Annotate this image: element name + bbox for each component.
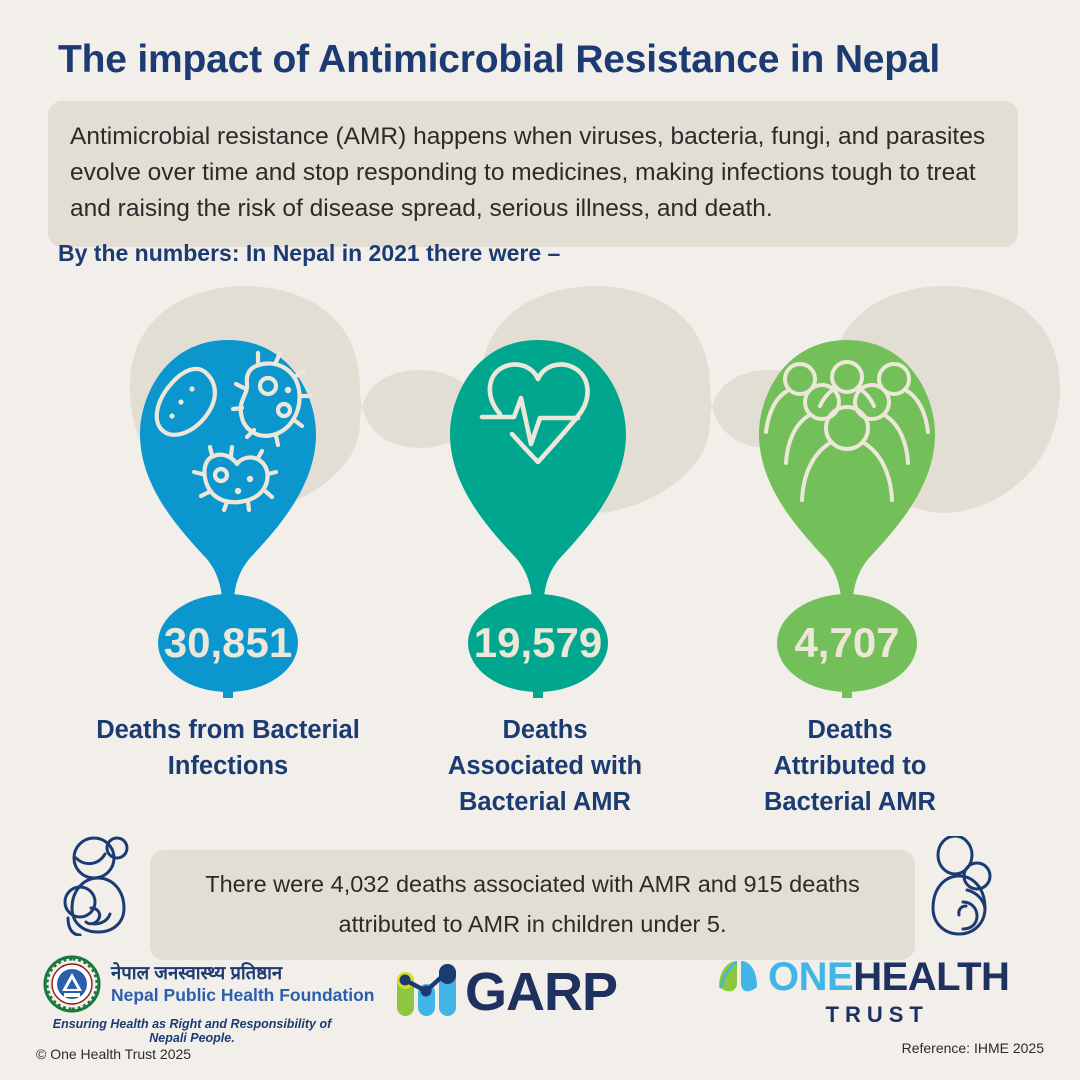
intro-text: Antimicrobial resistance (AMR) happens w… [70, 119, 996, 227]
children-note-text: There were 4,032 deaths associated with … [205, 871, 860, 937]
mother-child-left-icon [58, 836, 140, 941]
children-note-panel: There were 4,032 deaths associated with … [150, 850, 915, 960]
garp-bars-icon [395, 958, 463, 1018]
nphf-english-name: Nepal Public Health Foundation [111, 984, 374, 1006]
stat-value-bubble-0: 30,851 [158, 594, 298, 692]
stat-caption-1: Deaths Associated with Bacterial AMR [400, 712, 690, 820]
page-title: The impact of Antimicrobial Resistance i… [58, 38, 1038, 82]
logo-one-health-trust: ONE HEALTH TRUST [715, 955, 1009, 1028]
intro-panel: Antimicrobial resistance (AMR) happens w… [48, 101, 1018, 247]
oht-word-health: HEALTH [853, 955, 1009, 1000]
nphf-emblem-icon [42, 955, 102, 1013]
nphf-devanagari-name: नेपाल जनस्वास्थ्य प्रतिष्ठान [111, 962, 374, 984]
infographic-root: The impact of Antimicrobial Resistance i… [0, 0, 1080, 1080]
footer-copyright: © One Health Trust 2025 [36, 1046, 191, 1062]
stat-value-bubble-2: 4,707 [777, 594, 917, 692]
stat-caption-2-line1: Deaths [705, 712, 995, 748]
stat-caption-2-line3: Bacterial AMR [705, 784, 995, 820]
by-the-numbers-heading: By the numbers: In Nepal in 2021 there w… [58, 240, 560, 267]
stat-caption-0: Deaths from Bacterial Infections [58, 712, 398, 784]
garp-wordmark: GARP [465, 966, 617, 1018]
stat-caption-2-line2: Attributed to [705, 748, 995, 784]
footer-reference: Reference: IHME 2025 [902, 1040, 1044, 1056]
mother-child-right-icon [925, 836, 1007, 941]
stat-caption-2: Deaths Attributed to Bacterial AMR [705, 712, 995, 820]
stat-caption-1-line1: Deaths [400, 712, 690, 748]
stat-caption-1-line2: Associated with [400, 748, 690, 784]
logo-garp: GARP [395, 958, 617, 1018]
oht-leaf-icon [715, 957, 761, 999]
stat-caption-0-line1: Deaths from Bacterial [58, 712, 398, 748]
stat-value-bubble-1: 19,579 [468, 594, 608, 692]
nphf-tagline: Ensuring Health as Right and Responsibil… [42, 1017, 342, 1045]
logo-nepal-public-health-foundation: नेपाल जनस्वास्थ्य प्रतिष्ठान Nepal Publi… [42, 955, 374, 1045]
oht-word-one: ONE [768, 955, 853, 1000]
oht-word-trust: TRUST [715, 1002, 1009, 1028]
stat-caption-0-line2: Infections [58, 748, 398, 784]
stat-caption-1-line3: Bacterial AMR [400, 784, 690, 820]
